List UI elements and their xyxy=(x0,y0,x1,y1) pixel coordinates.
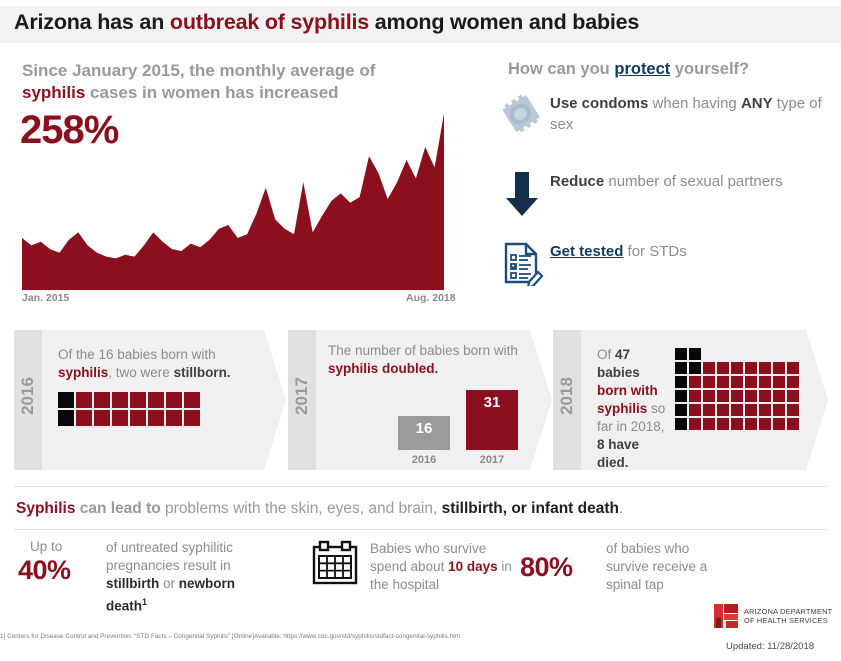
panel-2016-text-red: syphilis xyxy=(58,365,108,380)
square-baby xyxy=(148,392,164,408)
adhs-logo-mark xyxy=(713,602,739,629)
panel-2017: 2017 The number of babies born with syph… xyxy=(288,330,550,470)
panel-2018-text-pre: Of xyxy=(597,347,615,362)
fact-1-text: of untreated syphilitic pregnancies resu… xyxy=(106,539,276,616)
square-baby xyxy=(166,410,182,426)
protect-link[interactable]: protect xyxy=(614,60,670,78)
square-baby xyxy=(717,376,729,388)
square-baby xyxy=(745,362,757,374)
square-baby xyxy=(787,390,799,402)
panel-2018-year: 2018 xyxy=(557,366,577,426)
panel-2016-text-bold: stillborn. xyxy=(174,365,231,380)
square-baby xyxy=(689,376,701,388)
condom-icon xyxy=(494,92,550,134)
protect-section: How can you protect yourself? xyxy=(508,60,833,79)
lead-outcomes: stillbirth, or infant death xyxy=(442,500,619,517)
calendar-icon xyxy=(310,538,370,593)
square-row xyxy=(58,410,200,426)
fact-hospital-days: Babies who survive spend about 10 days i… xyxy=(310,538,515,594)
square-row xyxy=(58,392,200,408)
tip-2-bold: Reduce xyxy=(550,173,604,190)
square-baby xyxy=(773,418,785,430)
chart-x-end-label: Aug. 2018 xyxy=(406,292,456,304)
syphilis-trend-area-chart xyxy=(22,104,444,290)
square-baby xyxy=(703,362,715,374)
bar-2016-label: 2016 xyxy=(398,454,450,466)
bar-2017-label: 2017 xyxy=(466,454,518,466)
tip-3-tail: for STDs xyxy=(623,243,686,260)
square-baby xyxy=(773,390,785,402)
square-baby xyxy=(130,410,146,426)
panel-2017-arrow xyxy=(530,330,552,470)
square-died xyxy=(675,362,687,374)
panel-2016-text-mid: , two were xyxy=(108,365,173,380)
fact-1-t2: or xyxy=(159,576,179,591)
square-baby xyxy=(759,390,771,402)
square-baby xyxy=(745,376,757,388)
panel-2016-text-pre: Of the 16 babies born with xyxy=(58,347,216,362)
protect-heading: How can you protect yourself? xyxy=(508,60,833,79)
square-stillborn xyxy=(58,392,74,408)
square-baby xyxy=(184,410,200,426)
panel-2017-text-pre: The number of babies born with xyxy=(328,343,518,358)
tip-use-condoms: Use condoms when having ANY type of sex xyxy=(494,92,834,135)
tip-get-tested: Get tested for STDs xyxy=(494,240,834,286)
square-row xyxy=(675,376,799,388)
square-died xyxy=(675,376,687,388)
panel-2017-text-red: syphilis doubled. xyxy=(328,361,438,376)
tip-1-text: Use condoms when having ANY type of sex xyxy=(550,92,834,135)
fact-1-t1: of untreated syphilitic pregnancies resu… xyxy=(106,540,233,573)
fact-2-text: Babies who survive spend about 10 days i… xyxy=(370,540,515,594)
square-baby xyxy=(94,392,110,408)
panel-2016: 2016 Of the 16 babies born with syphilis… xyxy=(14,330,284,470)
panel-2017-year: 2017 xyxy=(292,366,312,426)
square-died xyxy=(689,362,701,374)
square-baby xyxy=(717,390,729,402)
square-baby xyxy=(717,418,729,430)
title-part-1: Arizona has an xyxy=(14,10,170,34)
fact-1-superscript: 1 xyxy=(142,597,147,607)
panel-2018-arrow xyxy=(806,330,828,470)
square-baby xyxy=(773,404,785,416)
square-died xyxy=(675,348,687,360)
fact-40-percent: 40% of untreated syphilitic pregnancies … xyxy=(18,538,276,616)
lead-statement: Syphilis can lead to problems with the s… xyxy=(16,500,836,518)
tip-reduce-partners: Reduce number of sexual partners xyxy=(494,170,834,218)
tip-1-bold-1: Use condoms xyxy=(550,95,648,112)
square-died xyxy=(689,348,701,360)
square-baby xyxy=(759,418,771,430)
infographic-page: Arizona has an outbreak of syphilis amon… xyxy=(0,0,841,661)
protect-heading-pre: How can you xyxy=(508,60,614,78)
adhs-logo-line-1: ARIZONA DEPARTMENT xyxy=(744,607,832,616)
square-died xyxy=(675,390,687,402)
square-baby xyxy=(731,418,743,430)
bar-2016: 16 xyxy=(398,416,450,450)
bar-2016-value: 16 xyxy=(398,420,450,437)
square-row xyxy=(675,362,799,374)
divider-top xyxy=(14,486,827,487)
square-baby xyxy=(787,418,799,430)
square-died xyxy=(675,404,687,416)
bar-2017: 31 xyxy=(466,390,518,450)
panel-2018-square-grid xyxy=(675,348,799,430)
area-chart-svg xyxy=(22,104,444,290)
square-baby xyxy=(745,390,757,402)
square-baby xyxy=(745,418,757,430)
intro-text: Since January 2015, the monthly average … xyxy=(22,60,482,104)
square-baby xyxy=(717,362,729,374)
panel-2018-text: Of 47 babies born with syphilis so far i… xyxy=(597,346,673,472)
tip-2-text: Reduce number of sexual partners xyxy=(550,170,783,192)
lead-syphilis: Syphilis xyxy=(16,500,75,517)
square-baby xyxy=(787,404,799,416)
square-baby xyxy=(731,404,743,416)
square-baby xyxy=(130,392,146,408)
square-baby xyxy=(759,362,771,374)
panel-2016-text: Of the 16 babies born with syphilis, two… xyxy=(58,346,248,382)
adhs-logo-line-2: OF HEALTH SERVICES xyxy=(744,616,832,625)
intro-line-2-rest: cases in women has increased xyxy=(85,83,338,102)
intro-line-2: syphilis cases in women has increased xyxy=(22,82,482,104)
lead-period: . xyxy=(619,500,623,517)
tip-1-bold-2: ANY xyxy=(741,95,773,112)
tip-1-mid: when having xyxy=(648,95,741,112)
divider-bottom xyxy=(14,529,827,530)
square-died xyxy=(675,418,687,430)
fact-1-bold: stillbirth xyxy=(106,576,159,591)
square-baby xyxy=(112,392,128,408)
square-row xyxy=(675,404,799,416)
square-baby xyxy=(759,376,771,388)
fact-1-percent: 40% xyxy=(18,555,106,586)
tip-3-text: Get tested for STDs xyxy=(550,240,687,262)
bar-2017-value: 31 xyxy=(466,394,518,411)
square-baby xyxy=(184,392,200,408)
square-stillborn xyxy=(58,410,74,426)
square-row xyxy=(675,348,799,360)
square-baby xyxy=(731,362,743,374)
square-baby xyxy=(689,418,701,430)
square-baby xyxy=(745,404,757,416)
square-baby xyxy=(787,362,799,374)
square-baby xyxy=(689,404,701,416)
test-document-icon xyxy=(494,240,550,286)
adhs-logo: ARIZONA DEPARTMENT OF HEALTH SERVICES xyxy=(713,602,832,629)
square-baby xyxy=(703,376,715,388)
panel-2016-year: 2016 xyxy=(18,366,38,426)
chart-x-start-label: Jan. 2015 xyxy=(22,292,69,304)
panel-2017-bar-chart: 16 31 2016 2017 xyxy=(398,388,523,466)
fact-2-days: 10 days xyxy=(448,559,498,574)
square-baby xyxy=(689,390,701,402)
square-baby xyxy=(759,404,771,416)
square-baby xyxy=(76,392,92,408)
down-arrow-icon xyxy=(494,170,550,218)
square-baby xyxy=(76,410,92,426)
title-part-2: among women and babies xyxy=(369,10,639,34)
panel-2018-text-bold-2: 8 have died. xyxy=(597,437,639,470)
panel-2016-arrow xyxy=(264,330,286,470)
square-baby xyxy=(773,376,785,388)
square-baby xyxy=(94,410,110,426)
intro-syphilis-word: syphilis xyxy=(22,83,85,102)
fact-3-text: of babies who survive receive a spinal t… xyxy=(606,540,731,594)
square-baby xyxy=(148,410,164,426)
square-baby xyxy=(731,390,743,402)
square-baby xyxy=(773,362,785,374)
fact-80-percent: 80% of babies who survive receive a spin… xyxy=(520,538,731,594)
fact-3-percent: 80% xyxy=(520,552,606,583)
intro-line-1: Since January 2015, the monthly average … xyxy=(22,60,482,82)
square-baby xyxy=(703,390,715,402)
updated-date: Updated: 11/28/2018 xyxy=(726,641,814,652)
get-tested-link[interactable]: Get tested xyxy=(550,243,623,260)
adhs-logo-text: ARIZONA DEPARTMENT OF HEALTH SERVICES xyxy=(744,607,832,625)
protect-heading-post: yourself? xyxy=(670,60,749,78)
square-row xyxy=(675,418,799,430)
panel-2017-text: The number of babies born with syphilis … xyxy=(328,342,518,378)
square-baby xyxy=(717,404,729,416)
citation: 1] Centers for Disease Control and Preve… xyxy=(0,633,640,640)
tip-2-mid: number of sexual partners xyxy=(604,173,782,190)
title-highlight: outbreak of syphilis xyxy=(170,10,369,34)
square-baby xyxy=(703,404,715,416)
panel-2016-square-grid xyxy=(58,392,200,426)
square-baby xyxy=(787,376,799,388)
square-baby xyxy=(112,410,128,426)
panel-2018: 2018 Of 47 babies born with syphilis so … xyxy=(553,330,828,470)
square-baby xyxy=(166,392,182,408)
page-title: Arizona has an outbreak of syphilis amon… xyxy=(14,10,834,35)
square-baby xyxy=(703,418,715,430)
square-baby xyxy=(731,376,743,388)
square-row xyxy=(675,390,799,402)
lead-problems: problems with the skin, eyes, and brain, xyxy=(165,500,442,517)
lead-can-lead-to: can lead to xyxy=(75,500,165,517)
